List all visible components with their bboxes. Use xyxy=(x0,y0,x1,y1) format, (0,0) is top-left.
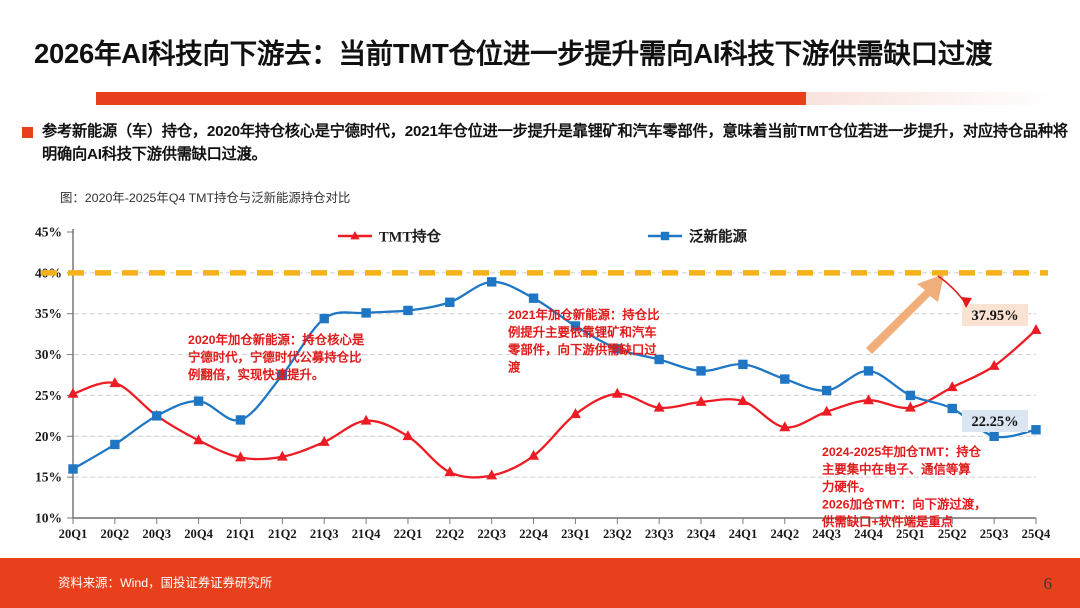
svg-text:21Q2: 21Q2 xyxy=(268,527,297,541)
page-title: 2026年AI科技向下游去：当前TMT仓位进一步提升需向AI科技下游供需缺口过渡 xyxy=(0,38,1080,70)
svg-text:21Q1: 21Q1 xyxy=(226,527,255,541)
svg-text:25Q1: 25Q1 xyxy=(896,527,925,541)
svg-text:20Q1: 20Q1 xyxy=(59,527,88,541)
page-number: 6 xyxy=(1044,574,1053,594)
svg-text:22Q2: 22Q2 xyxy=(435,527,464,541)
title-underline-fade xyxy=(806,92,1056,105)
title-block: 2026年AI科技向下游去：当前TMT仓位进一步提升需向AI科技下游供需缺口过渡 xyxy=(0,38,1080,70)
svg-text:20%: 20% xyxy=(35,429,62,444)
svg-text:22.25%: 22.25% xyxy=(971,414,1018,430)
svg-text:2020年加仓新能源：持仓核心是宁德时代，宁德时代公募持仓比: 2020年加仓新能源：持仓核心是宁德时代，宁德时代公募持仓比例翻倍，实现快速提升… xyxy=(188,332,365,382)
chart-container: 45%40%35%30%25%20%15%10%20Q120Q220Q320Q4… xyxy=(0,218,1080,558)
svg-text:25Q3: 25Q3 xyxy=(980,527,1009,541)
svg-text:23Q3: 23Q3 xyxy=(645,527,674,541)
svg-text:25Q4: 25Q4 xyxy=(1022,527,1051,541)
bullet-square-icon xyxy=(22,127,33,138)
bullet-paragraph-text: 参考新能源（车）持仓，2020年持仓核心是宁德时代，2021年仓位进一步提升是靠… xyxy=(42,120,1068,166)
bullet-paragraph: 参考新能源（车）持仓，2020年持仓核心是宁德时代，2021年仓位进一步提升是靠… xyxy=(22,120,1068,166)
svg-text:21Q3: 21Q3 xyxy=(310,527,339,541)
svg-text:TMT持仓: TMT持仓 xyxy=(379,228,442,246)
svg-text:2021年加仓新能源：持仓比例提升主要依靠锂矿和汽车零部件，: 2021年加仓新能源：持仓比例提升主要依靠锂矿和汽车零部件，向下游供需缺口过渡 xyxy=(507,307,659,375)
chart-caption: 图：2020年-2025年Q4 TMT持仓与泛新能源持仓对比 xyxy=(60,188,350,206)
holdings-comparison-line-chart: 45%40%35%30%25%20%15%10%20Q120Q220Q320Q4… xyxy=(0,218,1080,558)
svg-text:24Q4: 24Q4 xyxy=(854,527,883,541)
svg-text:20Q2: 20Q2 xyxy=(101,527,130,541)
svg-text:23Q4: 23Q4 xyxy=(687,527,716,541)
svg-text:22Q4: 22Q4 xyxy=(519,527,548,541)
source-note: 资料来源：Wind，国投证券证券研究所 xyxy=(58,573,272,591)
svg-text:10%: 10% xyxy=(35,511,62,526)
svg-text:2024-2025年加仓TMT：持仓主要集中在电子、通信等算: 2024-2025年加仓TMT：持仓主要集中在电子、通信等算力硬件。2026加仓… xyxy=(821,444,987,529)
svg-text:15%: 15% xyxy=(35,470,62,485)
svg-text:22Q1: 22Q1 xyxy=(394,527,423,541)
svg-text:23Q2: 23Q2 xyxy=(603,527,632,541)
svg-text:20Q4: 20Q4 xyxy=(184,527,213,541)
footer: 资料来源：Wind，国投证券证券研究所 xyxy=(0,558,1080,608)
svg-text:21Q4: 21Q4 xyxy=(352,527,381,541)
svg-text:35%: 35% xyxy=(35,306,62,321)
svg-text:24Q1: 24Q1 xyxy=(729,527,758,541)
svg-text:24Q2: 24Q2 xyxy=(770,527,799,541)
svg-text:25%: 25% xyxy=(35,388,62,403)
svg-text:22Q3: 22Q3 xyxy=(477,527,506,541)
svg-text:25Q2: 25Q2 xyxy=(938,527,967,541)
title-underline-bar xyxy=(96,92,806,105)
svg-text:45%: 45% xyxy=(35,225,62,240)
svg-text:24Q3: 24Q3 xyxy=(812,527,841,541)
svg-text:30%: 30% xyxy=(35,347,62,362)
svg-text:37.95%: 37.95% xyxy=(971,308,1018,324)
svg-text:20Q3: 20Q3 xyxy=(142,527,171,541)
svg-text:泛新能源: 泛新能源 xyxy=(689,228,747,246)
svg-text:23Q1: 23Q1 xyxy=(561,527,590,541)
